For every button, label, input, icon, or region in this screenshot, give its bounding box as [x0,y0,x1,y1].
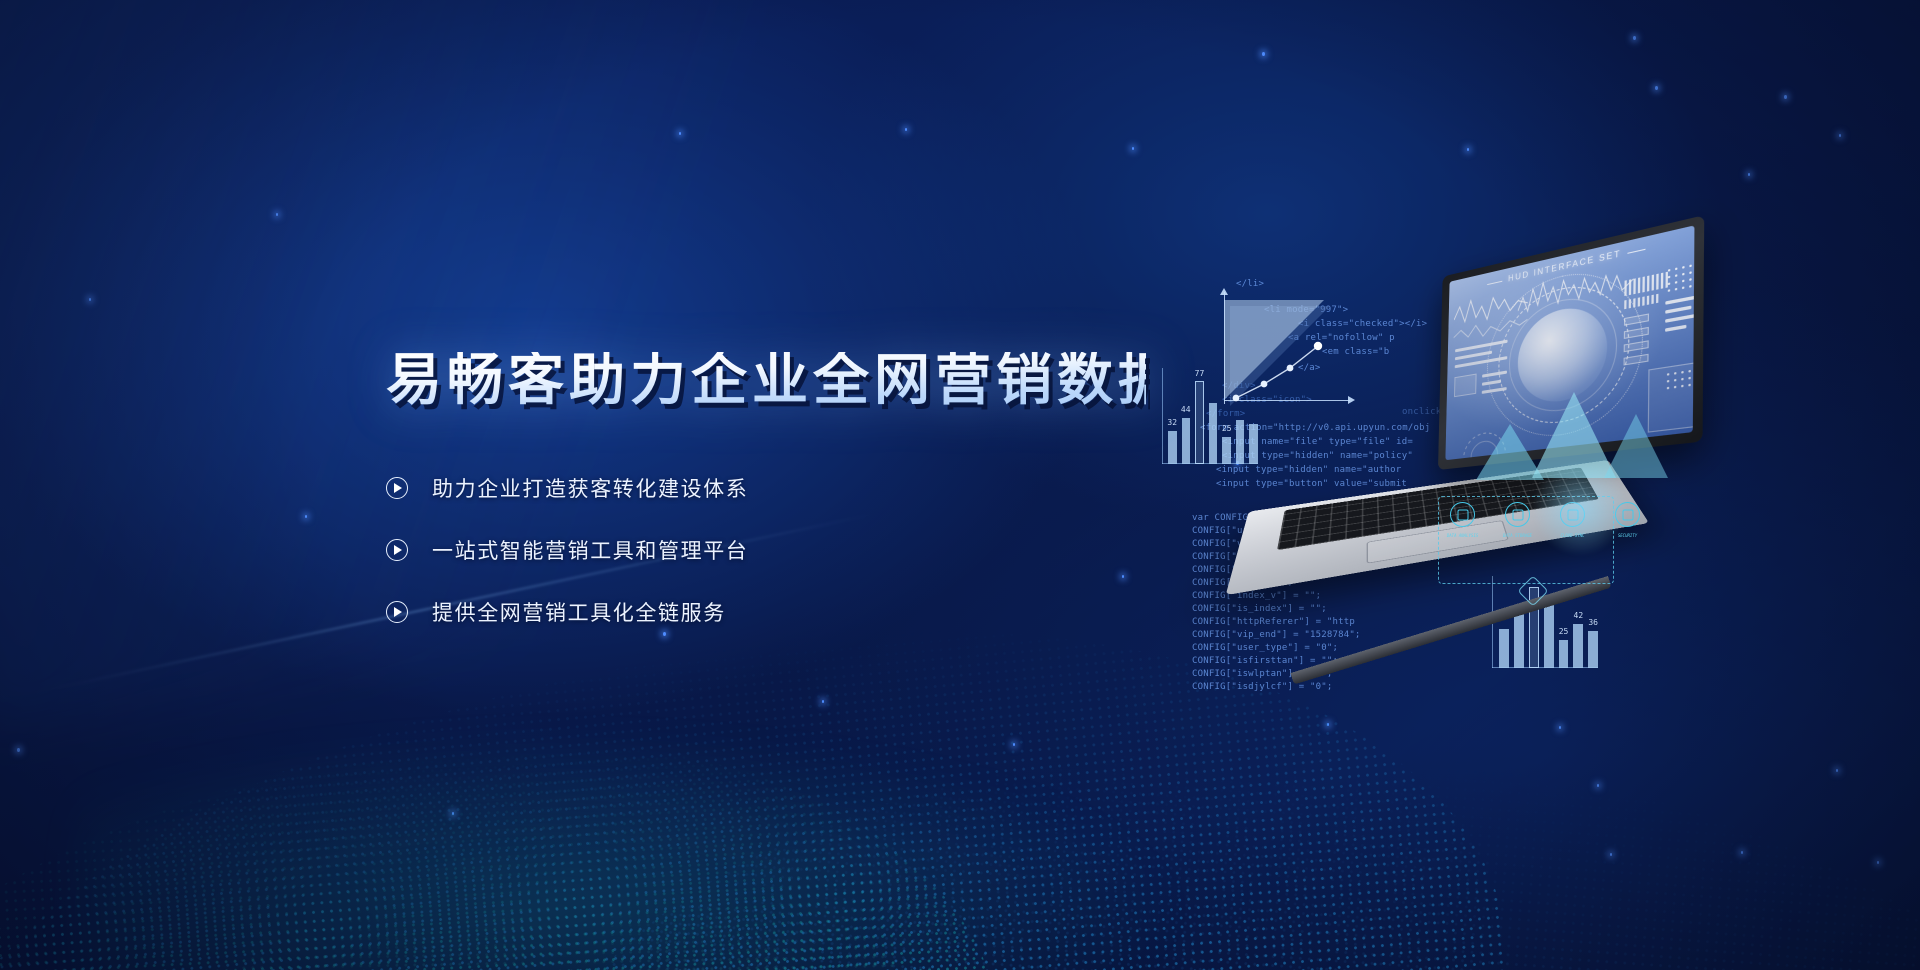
bar-value: 32 [1167,418,1177,427]
bar [1249,424,1258,464]
list-item-label: 提供全网营销工具化全链服务 [432,597,726,627]
tech-illustration: </li> <li mode="997"> <i class="checked"… [1140,240,1700,690]
bar: 32 [1168,431,1177,464]
list-item-label: 一站式智能营销工具和管理平台 [432,535,748,565]
bar: 44 [1182,418,1191,464]
code-overlay-config-8: CONFIG["httpReferer"] = "http [1192,616,1355,629]
laptop-illustration: HUD INTERFACE SET DATA ANALYSIS DATA STO… [1260,264,1690,604]
page-title: 易畅客助力企业全网营销数据化 [386,352,1146,411]
list-item-label: 助力企业打造获客转化建设体系 [432,473,748,503]
play-circle-icon [386,601,408,623]
bar: 25 [1559,640,1569,668]
bar [1514,613,1524,668]
hero-copy: 易畅客助力企业全网营销数据化 助力企业打造获客转化建设体系 一站式智能营销工具和… [386,352,1146,654]
hud-icon-label: SECURITY [1618,533,1637,538]
lens-flare [1532,460,1628,556]
hud-icon-label: DATA STORAGE [1503,533,1532,538]
mountain-triangle [1604,414,1668,478]
bar: 25 [1222,437,1231,464]
analytics-icon: DATA ANALYSIS [1450,502,1475,527]
bar-value: 42 [1574,611,1584,620]
code-overlay-config-7: CONFIG["is_index"] = ""; [1192,603,1327,616]
code-overlay-config-9: CONFIG["vip_end"] = "1528784"; [1192,629,1361,642]
bar-value: 36 [1588,618,1598,627]
hud-icon-label: DATA ANALYSIS [1447,533,1478,538]
bar-value: 25 [1559,627,1569,636]
bar-value: 25 [1222,424,1232,433]
bar [1544,602,1554,668]
database-icon: DATA STORAGE [1505,502,1530,527]
list-item: 一站式智能营销工具和管理平台 [386,530,1146,571]
bar: 42 [1573,624,1583,668]
play-circle-icon [386,477,408,499]
bar: 36 [1588,631,1598,668]
list-item: 助力企业打造获客转化建设体系 [386,468,1146,509]
code-overlay-config-10: CONFIG["user_type"] = "0"; [1192,642,1338,655]
list-item: 提供全网营销工具化全链服务 [386,592,1146,633]
code-overlay-config-13: CONFIG["isdjylcf"] = "0"; [1192,681,1332,694]
bar [1499,629,1509,668]
hero-banner: </li> <li mode="997"> <i class="checked"… [0,0,1920,970]
feature-list: 助力企业打造获客转化建设体系 一站式智能营销工具和管理平台 提供全网营销工具化全… [386,468,1146,633]
bar [1236,420,1245,464]
play-circle-icon [386,539,408,561]
